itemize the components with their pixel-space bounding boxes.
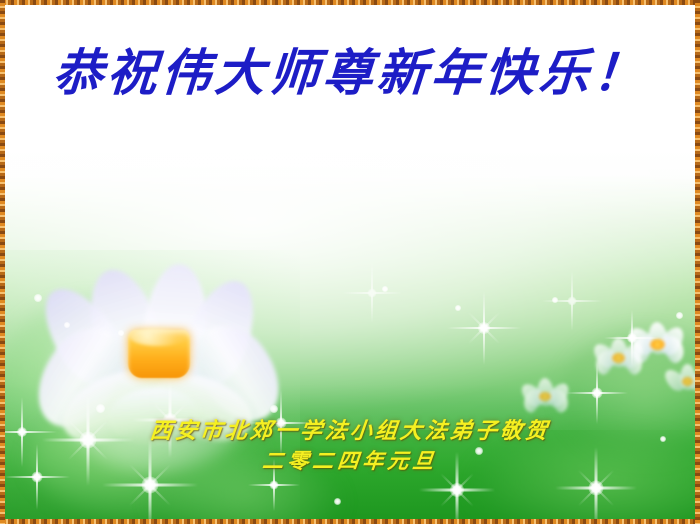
sparkle-dot-icon: [34, 294, 42, 302]
lotus-center-speckle: [130, 328, 188, 346]
small-lotus-icon: [592, 338, 646, 378]
greeting-title: 恭祝伟大师尊新年快乐！: [0, 42, 700, 104]
sparkle-dot-icon: [270, 405, 278, 413]
sparkle-dot-icon: [118, 330, 124, 336]
signature-block: 西安市北郊一学法小组大法弟子敬贺 二零二四年元旦: [0, 416, 700, 476]
sparkle-dot-icon: [382, 286, 388, 292]
small-lotus-icon: [520, 378, 572, 416]
signature-line-2: 二零二四年元旦: [0, 446, 700, 476]
greeting-card: 恭祝伟大师尊新年快乐！ 西安市北郊一学法小组大法弟子敬贺 二零二四年元旦: [0, 0, 700, 524]
sparkle-dot-icon: [334, 498, 341, 505]
sparkle-dot-icon: [552, 297, 558, 303]
small-lotus-icon: [664, 364, 700, 400]
signature-line-1: 西安市北郊一学法小组大法弟子敬贺: [0, 416, 700, 446]
sparkle-dot-icon: [676, 312, 683, 319]
sparkle-dot-icon: [64, 322, 70, 328]
sparkle-dot-icon: [96, 404, 105, 413]
sparkle-dot-icon: [455, 305, 461, 311]
